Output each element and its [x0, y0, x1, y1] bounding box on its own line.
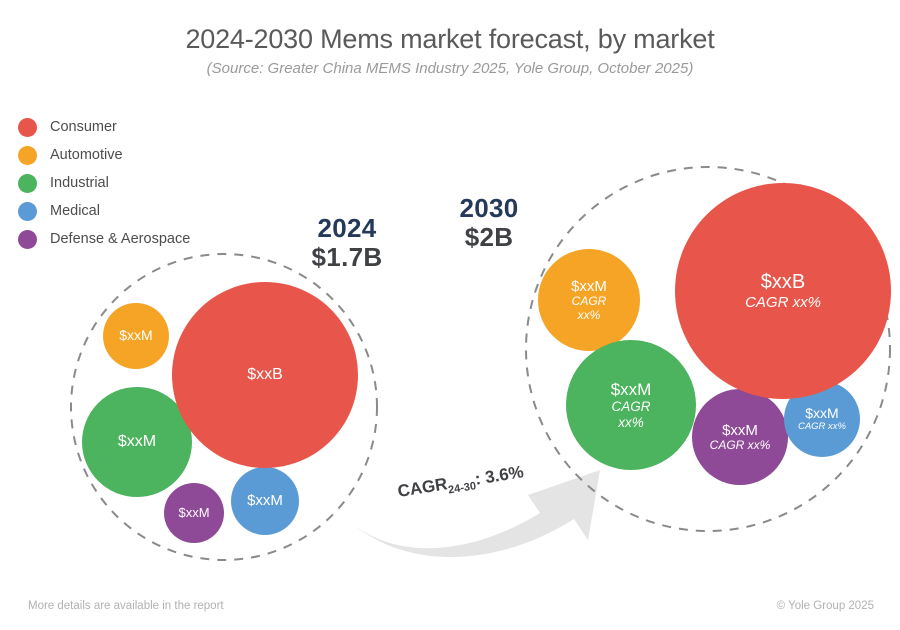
year-callout-2030: 2030 $2B — [430, 194, 548, 252]
legend-item-industrial[interactable]: Industrial — [18, 169, 248, 197]
cagr-annotation-value: : 3.6% — [473, 462, 525, 488]
bubble-amount-label: $xxM — [247, 492, 283, 509]
legend-item-label: Defense & Aerospace — [50, 231, 190, 247]
bubble-2024-consumer[interactable]: $xxB — [172, 282, 358, 468]
bubble-amount-label: $xxM — [571, 278, 607, 295]
legend-swatch-icon — [18, 146, 37, 165]
legend-swatch-icon — [18, 230, 37, 249]
bubble-amount-label: $xxM — [611, 380, 652, 399]
legend-item-label: Medical — [50, 203, 100, 219]
bubble-cagr-label: CAGRxx% — [572, 295, 607, 322]
legend-item-defense-aerospace[interactable]: Defense & Aerospace — [18, 225, 248, 253]
legend-item-automotive[interactable]: Automotive — [18, 141, 248, 169]
bubble-cagr-label: CAGR xx% — [710, 439, 771, 453]
legend-item-medical[interactable]: Medical — [18, 197, 248, 225]
bubble-2030-consumer[interactable]: $xxB CAGR xx% — [675, 183, 891, 399]
legend-swatch-icon — [18, 202, 37, 221]
bubble-amount-label: $xxB — [247, 366, 283, 384]
cagr-annotation: CAGR24-30: 3.6% — [396, 462, 525, 504]
year-callout-2024: 2024 $1.7B — [288, 214, 406, 272]
bubble-amount-label: $xxM — [722, 422, 758, 439]
bubble-cagr-label: CAGR xx% — [745, 294, 821, 311]
bubble-2030-automotive[interactable]: $xxM CAGRxx% — [538, 249, 640, 351]
footer-note: More details are available in the report — [28, 600, 224, 612]
bubble-2030-industrial[interactable]: $xxM CAGRxx% — [566, 340, 696, 470]
bubble-amount-label: $xxM — [118, 433, 156, 451]
bubble-2024-automotive[interactable]: $xxM — [103, 303, 169, 369]
year-total-value: $2B — [430, 223, 548, 252]
legend: Consumer Automotive Industrial Medical D… — [18, 113, 248, 253]
year-label: 2024 — [288, 214, 406, 243]
year-total-value: $1.7B — [288, 243, 406, 272]
legend-item-label: Industrial — [50, 175, 109, 191]
legend-item-consumer[interactable]: Consumer — [18, 113, 248, 141]
year-label: 2030 — [430, 194, 548, 223]
bubble-amount-label: $xxM — [119, 328, 152, 344]
page-subtitle: (Source: Greater China MEMS Industry 202… — [0, 60, 900, 77]
cagr-annotation-period: 24-30 — [447, 480, 477, 496]
legend-item-label: Automotive — [50, 147, 123, 163]
page-title: 2024-2030 Mems market forecast, by marke… — [0, 24, 900, 55]
bubble-amount-label: $xxM — [178, 506, 209, 521]
legend-swatch-icon — [18, 118, 37, 137]
chart-canvas: 2024-2030 Mems market forecast, by marke… — [0, 0, 900, 630]
cagr-annotation-prefix: CAGR — [396, 474, 448, 501]
bubble-2024-medical[interactable]: $xxM — [231, 467, 299, 535]
bubble-cagr-label: CAGRxx% — [611, 399, 650, 430]
legend-item-label: Consumer — [50, 119, 117, 135]
footer-copyright: © Yole Group 2025 — [777, 600, 874, 612]
bubble-2030-defense-aerospace[interactable]: $xxM CAGR xx% — [692, 389, 788, 485]
bubble-amount-label: $xxB — [761, 271, 805, 294]
legend-swatch-icon — [18, 174, 37, 193]
bubble-cagr-label: CAGR xx% — [798, 422, 846, 433]
bubble-amount-label: $xxM — [805, 406, 838, 422]
bubble-2024-defense-aerospace[interactable]: $xxM — [164, 483, 224, 543]
